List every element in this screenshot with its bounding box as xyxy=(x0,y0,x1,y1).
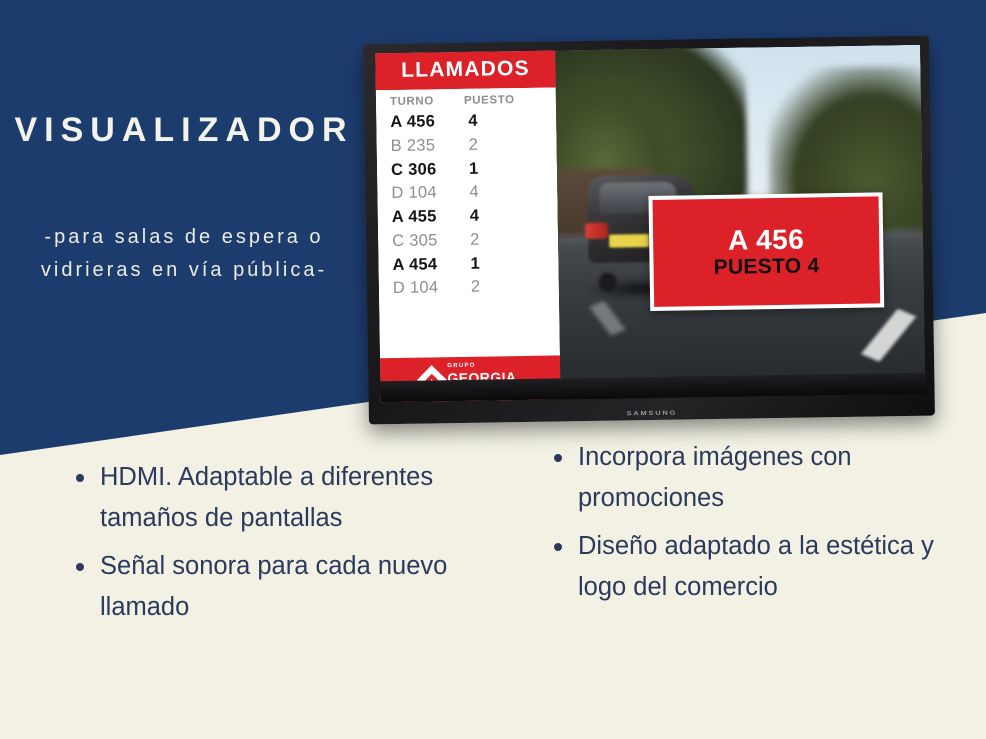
now-calling-callout: A 456 PUESTO 4 xyxy=(649,192,884,311)
cell-turno: D 104 xyxy=(391,181,465,206)
queue-table: TURNO PUESTO A 456 4 B 235 2 C 306 1 xyxy=(376,87,560,358)
table-row: A 455 4 xyxy=(392,204,546,230)
tv-brand-label: SAMSUNG xyxy=(627,411,678,418)
list-item: Señal sonora para cada nuevo llamado xyxy=(62,546,514,629)
tv-bezel: LLAMADOS TURNO PUESTO A 456 4 B 235 2 xyxy=(363,36,935,425)
queue-panel-title: LLAMADOS xyxy=(375,50,556,90)
cell-turno: A 454 xyxy=(392,252,466,277)
callout-puesto: PUESTO 4 xyxy=(714,255,820,278)
callout-inner: A 456 PUESTO 4 xyxy=(653,196,880,307)
list-item: HDMI. Adaptable a diferentes tamaños de … xyxy=(62,457,514,540)
cell-turno: C 305 xyxy=(392,229,466,254)
table-row: A 456 4 xyxy=(390,109,544,135)
tv-screen: LLAMADOS TURNO PUESTO A 456 4 B 235 2 xyxy=(375,45,925,403)
cell-puesto: 4 xyxy=(465,180,545,205)
list-item: Diseño adaptado a la estética y logo del… xyxy=(540,526,986,609)
car-taillight-left xyxy=(585,223,609,239)
table-row: D 104 4 xyxy=(391,180,545,206)
cell-turno: A 455 xyxy=(392,205,466,230)
feature-list-left: HDMI. Adaptable a diferentes tamaños de … xyxy=(62,457,514,634)
logo-word-grupo: GRUPO xyxy=(447,363,476,369)
cell-turno: C 306 xyxy=(391,157,465,182)
cell-puesto: 1 xyxy=(466,251,546,276)
callout-turno: A 456 xyxy=(728,225,805,254)
table-row: A 454 1 xyxy=(392,251,546,277)
hero-text-block: VISUALIZADOR -para salas de espera o vid… xyxy=(0,112,368,286)
queue-panel: LLAMADOS TURNO PUESTO A 456 4 B 235 2 xyxy=(375,50,560,402)
list-item: Incorpora imágenes con promociones xyxy=(540,437,986,520)
cell-turno: D 104 xyxy=(393,276,467,301)
column-header-puesto: PUESTO xyxy=(464,94,544,107)
table-row: B 235 2 xyxy=(390,132,544,158)
page-title: VISUALIZADOR xyxy=(0,112,368,149)
cell-puesto: 4 xyxy=(466,204,546,229)
cell-puesto: 2 xyxy=(466,227,546,252)
page-subtitle: -para salas de espera o vidrieras en vía… xyxy=(0,221,368,286)
cell-turno: B 235 xyxy=(390,134,464,159)
feature-list-right: Incorpora imágenes con promociones Diseñ… xyxy=(540,437,986,614)
table-row: C 305 2 xyxy=(392,227,546,253)
cell-puesto: 2 xyxy=(467,275,547,300)
cell-turno: A 456 xyxy=(390,110,464,135)
cell-puesto: 4 xyxy=(464,109,544,134)
car-license-plate xyxy=(609,234,649,248)
table-row: D 104 2 xyxy=(393,275,547,301)
cell-puesto: 1 xyxy=(465,156,545,181)
table-row: C 306 1 xyxy=(391,156,545,182)
column-header-turno: TURNO xyxy=(390,95,464,108)
promo-photo: A 456 PUESTO 4 xyxy=(555,45,925,400)
television-mockup: LLAMADOS TURNO PUESTO A 456 4 B 235 2 xyxy=(363,36,935,425)
cell-puesto: 2 xyxy=(464,132,544,157)
